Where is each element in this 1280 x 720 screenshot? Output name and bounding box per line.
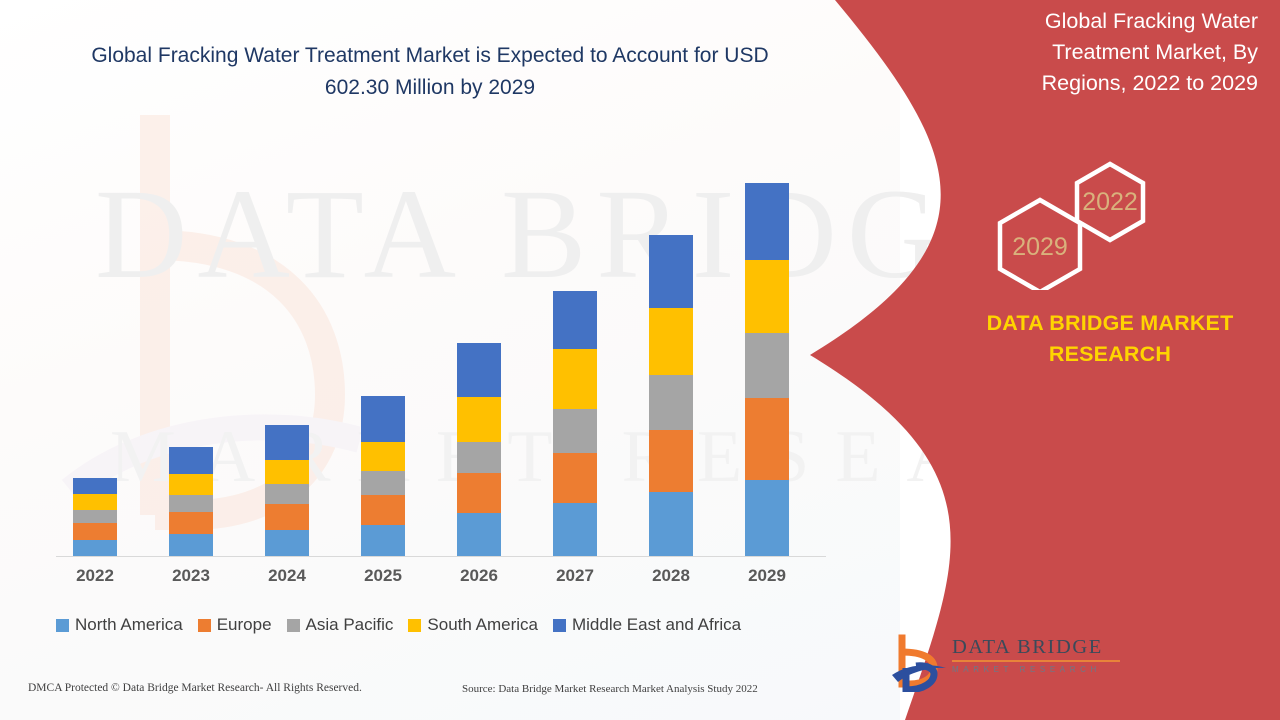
- x-label-2024: 2024: [242, 566, 332, 586]
- bar-segment-south-america: [457, 397, 501, 442]
- bar-segment-north-america: [745, 480, 789, 556]
- bar-segment-europe: [745, 398, 789, 480]
- footer-copyright: DMCA Protected © Data Bridge Market Rese…: [28, 682, 362, 694]
- x-label-2026: 2026: [434, 566, 524, 586]
- bar-segment-middle-east-and-africa: [745, 183, 789, 260]
- x-label-2023: 2023: [146, 566, 236, 586]
- x-axis-labels: 20222023202420252026202720282029: [0, 566, 860, 596]
- bar-segment-europe: [361, 495, 405, 525]
- bar-2024: [265, 425, 309, 556]
- bar-segment-asia-pacific: [649, 375, 693, 430]
- legend-item-north-america[interactable]: North America: [56, 615, 183, 635]
- x-axis-line: [56, 556, 826, 557]
- hexagon-2029-label: 2029: [1012, 233, 1068, 261]
- bar-segment-north-america: [169, 534, 213, 556]
- legend-item-asia-pacific[interactable]: Asia Pacific: [287, 615, 394, 635]
- legend-swatch-icon: [198, 619, 211, 632]
- bar-segment-middle-east-and-africa: [73, 478, 117, 494]
- legend-swatch-icon: [287, 619, 300, 632]
- stacked-bar-chart: 20222023202420252026202720282029: [0, 0, 860, 600]
- bar-segment-europe: [265, 504, 309, 530]
- bar-segment-europe: [553, 453, 597, 503]
- bar-segment-north-america: [553, 503, 597, 556]
- bar-2026: [457, 343, 501, 556]
- bar-segment-middle-east-and-africa: [169, 447, 213, 474]
- chart-legend: North AmericaEuropeAsia PacificSouth Ame…: [56, 615, 741, 635]
- bar-segment-south-america: [361, 442, 405, 471]
- legend-item-middle-east-and-africa[interactable]: Middle East and Africa: [553, 615, 741, 635]
- bar-segment-asia-pacific: [553, 409, 597, 453]
- bar-segment-asia-pacific: [361, 471, 405, 495]
- bar-segment-north-america: [649, 492, 693, 556]
- right-panel-brand: DATA BRIDGE MARKET RESEARCH: [960, 308, 1260, 370]
- bar-segment-middle-east-and-africa: [265, 425, 309, 460]
- legend-label: Europe: [217, 615, 272, 635]
- bar-segment-south-america: [553, 349, 597, 409]
- bar-segment-north-america: [361, 525, 405, 556]
- bar-segment-south-america: [73, 494, 117, 510]
- company-logo: DATA BRIDGE MARKET RESEARCH: [890, 632, 1120, 694]
- logo-mark-icon: [890, 634, 948, 692]
- bar-segment-south-america: [745, 260, 789, 333]
- bar-2025: [361, 396, 405, 556]
- x-label-2022: 2022: [50, 566, 140, 586]
- legend-item-south-america[interactable]: South America: [408, 615, 538, 635]
- bar-segment-asia-pacific: [265, 484, 309, 504]
- bar-segment-asia-pacific: [169, 495, 213, 512]
- legend-swatch-icon: [56, 619, 69, 632]
- bar-segment-north-america: [73, 540, 117, 556]
- legend-item-europe[interactable]: Europe: [198, 615, 272, 635]
- legend-label: North America: [75, 615, 183, 635]
- legend-label: South America: [427, 615, 538, 635]
- bar-2023: [169, 447, 213, 556]
- legend-swatch-icon: [408, 619, 421, 632]
- legend-label: Asia Pacific: [306, 615, 394, 635]
- bar-segment-asia-pacific: [457, 442, 501, 473]
- bar-segment-south-america: [169, 474, 213, 495]
- bar-2027: [553, 291, 597, 556]
- x-label-2029: 2029: [722, 566, 812, 586]
- bar-segment-north-america: [457, 513, 501, 556]
- bar-segment-asia-pacific: [73, 510, 117, 523]
- bar-segment-south-america: [265, 460, 309, 484]
- x-label-2028: 2028: [626, 566, 716, 586]
- bar-segment-asia-pacific: [745, 333, 789, 398]
- x-label-2025: 2025: [338, 566, 428, 586]
- bar-segment-middle-east-and-africa: [649, 235, 693, 308]
- logo-text: DATA BRIDGE MARKET RESEARCH: [952, 636, 1122, 675]
- bars-layer: [0, 0, 860, 556]
- bar-segment-middle-east-and-africa: [361, 396, 405, 442]
- bar-2029: [745, 183, 789, 556]
- bar-segment-south-america: [649, 308, 693, 375]
- bar-segment-europe: [649, 430, 693, 492]
- bar-segment-europe: [73, 523, 117, 540]
- hexagon-badges: 2022 2029: [980, 150, 1180, 290]
- infographic-canvas: DATA BRIDGE MARKET RESEARCH Global Frack…: [0, 0, 1280, 720]
- legend-label: Middle East and Africa: [572, 615, 741, 635]
- x-label-2027: 2027: [530, 566, 620, 586]
- bar-segment-middle-east-and-africa: [457, 343, 501, 397]
- right-panel-title: Global Fracking Water Treatment Market, …: [1000, 6, 1258, 99]
- logo-tagline: MARKET RESEARCH: [952, 664, 1122, 675]
- hexagon-2022-label: 2022: [1082, 188, 1138, 216]
- bar-2028: [649, 235, 693, 556]
- legend-swatch-icon: [553, 619, 566, 632]
- footer-source: Source: Data Bridge Market Research Mark…: [462, 683, 758, 695]
- bar-segment-europe: [169, 512, 213, 534]
- bar-segment-north-america: [265, 530, 309, 556]
- bar-segment-middle-east-and-africa: [553, 291, 597, 349]
- bar-segment-europe: [457, 473, 501, 513]
- bar-2022: [73, 478, 117, 556]
- logo-divider: [952, 660, 1120, 662]
- logo-name: DATA BRIDGE: [952, 636, 1122, 659]
